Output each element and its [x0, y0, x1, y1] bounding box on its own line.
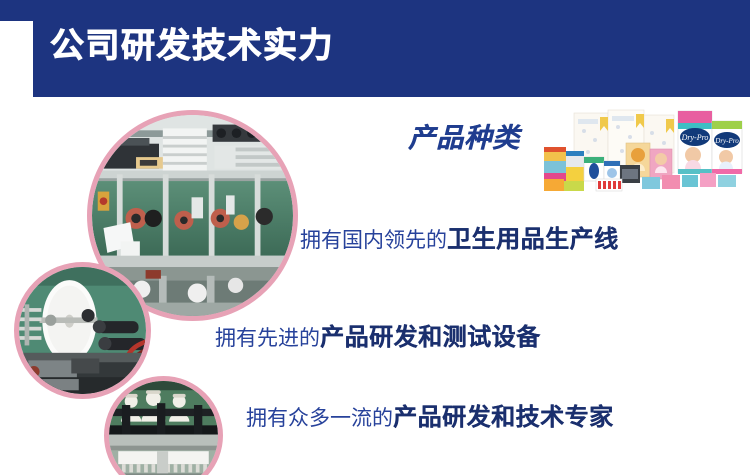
- tagline-2-emphasis: 产品研发和测试设备: [320, 324, 541, 351]
- product-lineup-photo: Dry-Pro Dry-Pro: [538, 107, 746, 197]
- banner-white-notch: [0, 21, 33, 99]
- tagline-3-prefix: 拥有众多一流的: [246, 407, 393, 430]
- slide-root: 公司研发技术实力: [0, 0, 750, 475]
- svg-text:Dry-Pro: Dry-Pro: [714, 137, 739, 145]
- tagline-rd-experts: 拥有众多一流的产品研发和技术专家: [246, 405, 614, 432]
- svg-text:Dry-Pro: Dry-Pro: [681, 133, 709, 142]
- header-banner: 公司研发技术实力: [0, 0, 750, 97]
- photo-material-roll-image: [19, 267, 146, 394]
- tagline-3-emphasis: 产品研发和技术专家: [393, 404, 614, 431]
- tagline-1-prefix: 拥有国内领先的: [300, 229, 447, 252]
- product-types-heading: 产品种类: [408, 116, 520, 155]
- photo-workers-image: [109, 381, 218, 475]
- photo-workers: [104, 376, 223, 475]
- tagline-2-prefix: 拥有先进的: [215, 327, 320, 350]
- page-title: 公司研发技术实力: [50, 16, 334, 76]
- tagline-1-emphasis: 卫生用品生产线: [447, 226, 619, 253]
- tagline-production-line: 拥有国内领先的卫生用品生产线: [300, 227, 619, 254]
- tagline-rd-equipment: 拥有先进的产品研发和测试设备: [215, 325, 541, 352]
- photo-material-roll: [14, 262, 151, 399]
